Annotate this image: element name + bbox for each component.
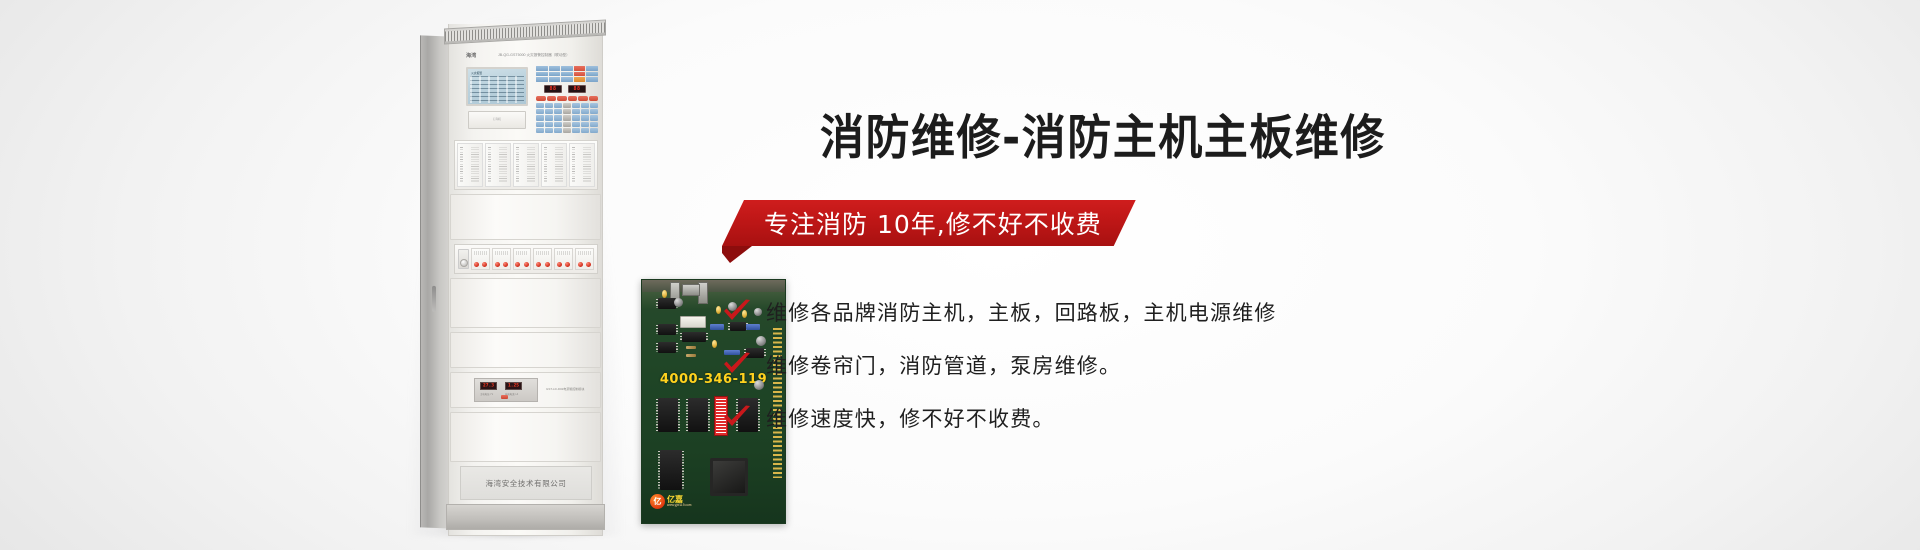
feature-list: 维修各品牌消防主机，主板，回路板，主机电源维修 维修卷帘门，消防管道，泵房维修。… bbox=[722, 285, 1277, 444]
cabinet-brand-plate-text: 海湾安全技术有限公司 bbox=[486, 478, 567, 489]
psu-model-text: GST-LD-D02电源箱控制模块 bbox=[546, 387, 584, 391]
cabinet-brand-mark: 海湾 bbox=[466, 52, 477, 59]
numeric-keypad bbox=[536, 103, 598, 133]
cabinet-model-text: JB-QG-GST5000 火灾报警控制器（联动型） bbox=[498, 53, 570, 58]
list-item-label: 维修速度快，修不好不收费。 bbox=[766, 403, 1055, 433]
cabinet-blank-panel-1 bbox=[450, 194, 601, 240]
lamp-cell bbox=[471, 248, 490, 270]
check-icon bbox=[722, 299, 766, 325]
cabinet-blank-panel-2 bbox=[450, 278, 601, 328]
cabinet-blank-panel-3 bbox=[450, 332, 601, 368]
promo-banner: 海湾 JB-QG-GST5000 火灾报警控制器（联动型） 火灾报警 打印机 8… bbox=[0, 0, 1920, 550]
tagline-text: 专注消防 10年,修不好不收费 bbox=[764, 205, 1102, 241]
list-item: 维修速度快，修不好不收费。 bbox=[722, 391, 1277, 444]
cabinet-blank-panel-4 bbox=[450, 412, 601, 462]
cabinet-printer-drawer: 打印机 bbox=[468, 111, 526, 129]
cabinet-plinth bbox=[446, 504, 605, 530]
ribbon-fold bbox=[722, 246, 752, 263]
page-title: 消防维修-消防主机主板维修 bbox=[820, 99, 1386, 168]
tagline-ribbon: 专注消防 10年,修不好不收费 bbox=[722, 200, 1136, 246]
lamp-cell bbox=[554, 248, 573, 270]
status-indicator-grid bbox=[536, 66, 598, 82]
list-item-label: 维修各品牌消防主机，主板，回路板，主机电源维修 bbox=[766, 297, 1277, 327]
list-item-label: 维修卷帘门，消防管道，泵房维修。 bbox=[766, 350, 1121, 380]
lamp-cell bbox=[492, 248, 511, 270]
key-switch bbox=[458, 249, 469, 269]
cabinet-door-handle bbox=[432, 286, 436, 312]
printer-label: 打印机 bbox=[493, 117, 501, 121]
function-button-row bbox=[536, 96, 598, 101]
list-item: 维修各品牌消防主机，主板，回路板，主机电源维修 bbox=[722, 285, 1277, 338]
cabinet-brand-plate: 海湾安全技术有限公司 bbox=[460, 466, 592, 500]
list-item: 维修卷帘门，消防管道，泵房维修。 bbox=[722, 338, 1277, 391]
check-icon bbox=[722, 352, 766, 378]
banner-text-content: 消防维修-消防主机主板维修 专注消防 10年,修不好不收费 维修各品牌消防主机，… bbox=[660, 0, 1890, 550]
lamp-cell bbox=[513, 248, 532, 270]
segment-display-right: 88 bbox=[568, 85, 586, 93]
cabinet-indicator-lamp-strip bbox=[454, 244, 598, 274]
cabinet-keypad-panel: 88 88 bbox=[536, 66, 598, 134]
power-supply-module: 27.3 1.25 主电电压 / V 充电电流 / A bbox=[474, 378, 538, 402]
lamp-cell bbox=[533, 248, 552, 270]
cabinet-lcd-display: 火灾报警 bbox=[466, 67, 528, 106]
psu-current-display: 1.25 bbox=[505, 382, 522, 390]
fire-alarm-control-panel-image: 海湾 JB-QG-GST5000 火灾报警控制器（联动型） 火灾报警 打印机 8… bbox=[420, 14, 610, 534]
lcd-columns bbox=[470, 76, 524, 103]
check-icon bbox=[722, 405, 766, 431]
psu-voltage-label: 主电电压 / V bbox=[480, 392, 493, 396]
segment-display-left: 88 bbox=[544, 85, 562, 93]
psu-reset-button bbox=[501, 395, 508, 399]
psu-voltage-display: 27.3 bbox=[480, 382, 497, 390]
lcd-title: 火灾报警 bbox=[471, 71, 482, 75]
seven-segment-displays: 88 88 bbox=[544, 85, 586, 93]
lamp-cell bbox=[575, 248, 594, 270]
cabinet-terminal-module-bank bbox=[454, 140, 598, 190]
